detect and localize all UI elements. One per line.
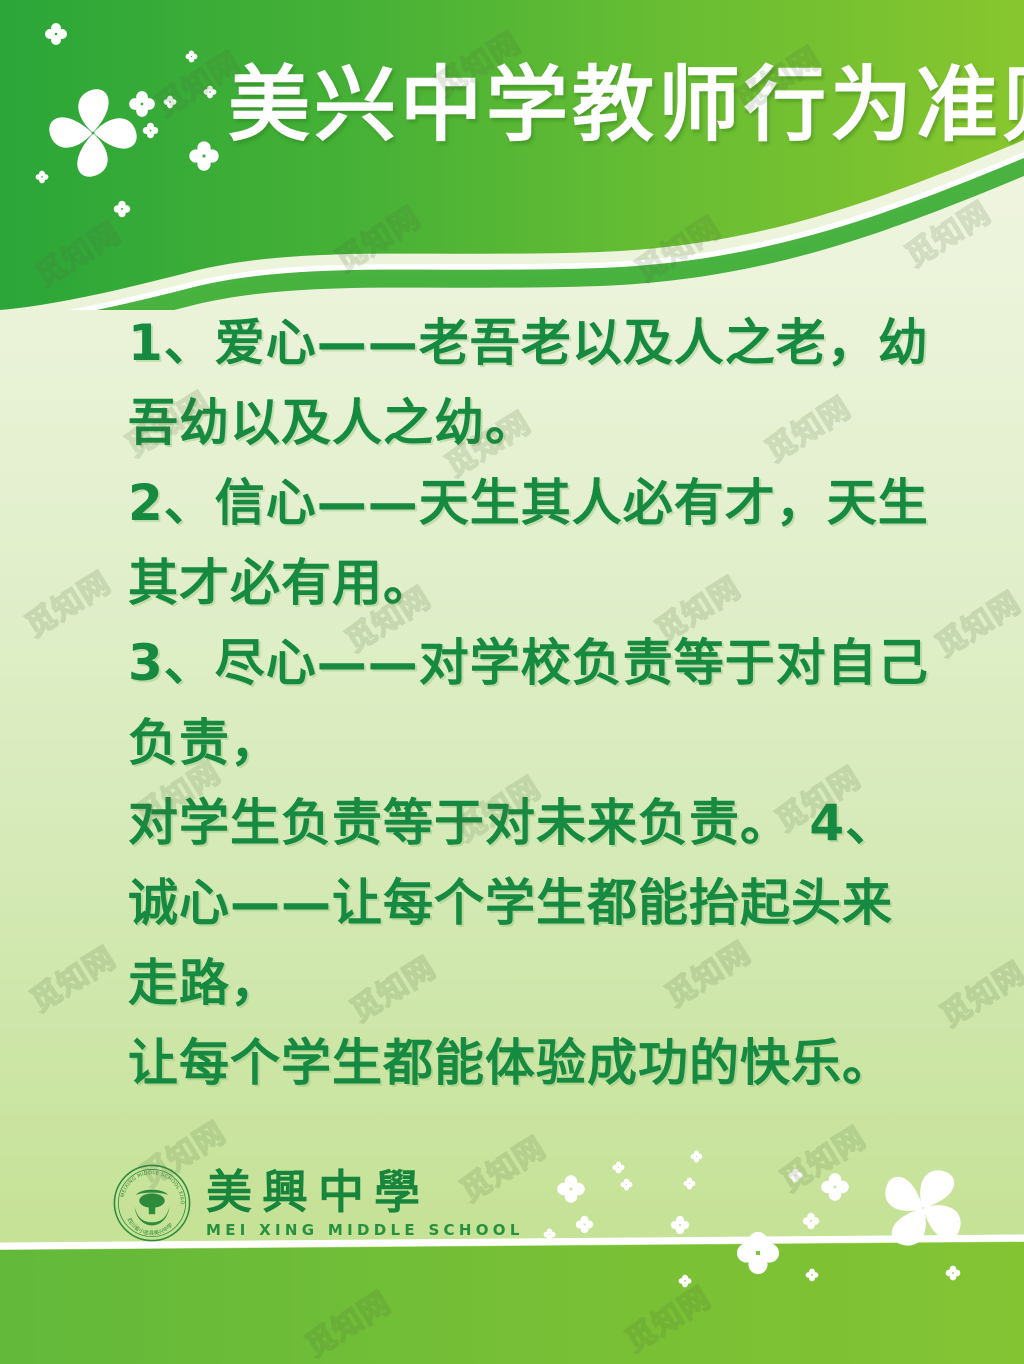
footer-wave-shape (0, 1234, 1024, 1364)
four-leaf-clover-icon (575, 1215, 594, 1234)
rule-line: 其才必有用。 (128, 543, 918, 623)
rule-line: 对学生负责等于对未来负责。 4、 (128, 783, 918, 863)
four-leaf-clover-icon (788, 1168, 803, 1183)
four-leaf-clover-icon (802, 1212, 820, 1230)
four-leaf-clover-icon (620, 1178, 633, 1191)
clover-small (820, 1172, 850, 1202)
four-leaf-clover-icon (690, 1150, 703, 1163)
watermark-text: 觅知网 (925, 579, 1024, 666)
rule-line: 负责， (128, 703, 918, 783)
rule-line: 3、尽心——对学校负责等于对自己 (128, 623, 918, 703)
page-title: 美兴中学教师行为准则 (228, 50, 928, 162)
poster-canvas: 美兴中学教师行为准则 (0, 0, 1024, 1364)
clover-small (556, 1174, 586, 1204)
rule-line: 吾幼以及人之幼。 (128, 383, 918, 463)
school-name-group: 美興中學 MEI XING MIDDLE SCHOOL (206, 1167, 524, 1239)
svg-text:四川省小金县美兴中学: 四川省小金县美兴中学 (126, 1217, 175, 1237)
school-name-cn: 美興中學 (206, 1167, 430, 1217)
clover-tiny (683, 1177, 696, 1190)
clover-tiny (690, 1150, 703, 1163)
four-leaf-clover-icon (556, 1174, 586, 1204)
clover-tiny (802, 1212, 820, 1230)
rule-line: 1、爱心——老吾老以及人之老，幼 (128, 303, 918, 383)
four-leaf-clover-icon (683, 1177, 696, 1190)
footer-banner (0, 1234, 1024, 1364)
watermark-text: 觅知网 (15, 559, 117, 646)
four-leaf-clover-icon (612, 1161, 625, 1174)
watermark-text: 觅知网 (930, 949, 1024, 1036)
watermark-text: 觅知网 (770, 1114, 872, 1201)
clover-tiny (788, 1168, 803, 1183)
rule-line: 2、信心——天生其人必有才，天生 (128, 463, 918, 543)
four-leaf-clover-icon (670, 1215, 690, 1235)
clover-tiny (670, 1215, 690, 1235)
school-logo: MEIXING MIDDLE SCHOOL XIAOJIN COUNTY 四川省… (112, 1163, 524, 1243)
clover-tiny (620, 1178, 633, 1191)
rule-line: 让每个学生都能体验成功的快乐。 (128, 1023, 918, 1103)
four-leaf-clover-icon (820, 1172, 850, 1202)
rules-text-block: 1、爱心——老吾老以及人之老，幼 吾幼以及人之幼。 2、信心——天生其人必有才，… (128, 303, 918, 1103)
clover-tiny (575, 1215, 594, 1234)
rule-line: 走路， (128, 943, 918, 1023)
watermark-text: 觅知网 (20, 934, 122, 1021)
school-emblem-icon: MEIXING MIDDLE SCHOOL XIAOJIN COUNTY 四川省… (112, 1163, 192, 1243)
school-name-en: MEI XING MIDDLE SCHOOL (206, 1221, 524, 1239)
clover-tiny (612, 1161, 625, 1174)
rule-line: 诚心——让每个学生都能抬起头来 (128, 863, 918, 943)
